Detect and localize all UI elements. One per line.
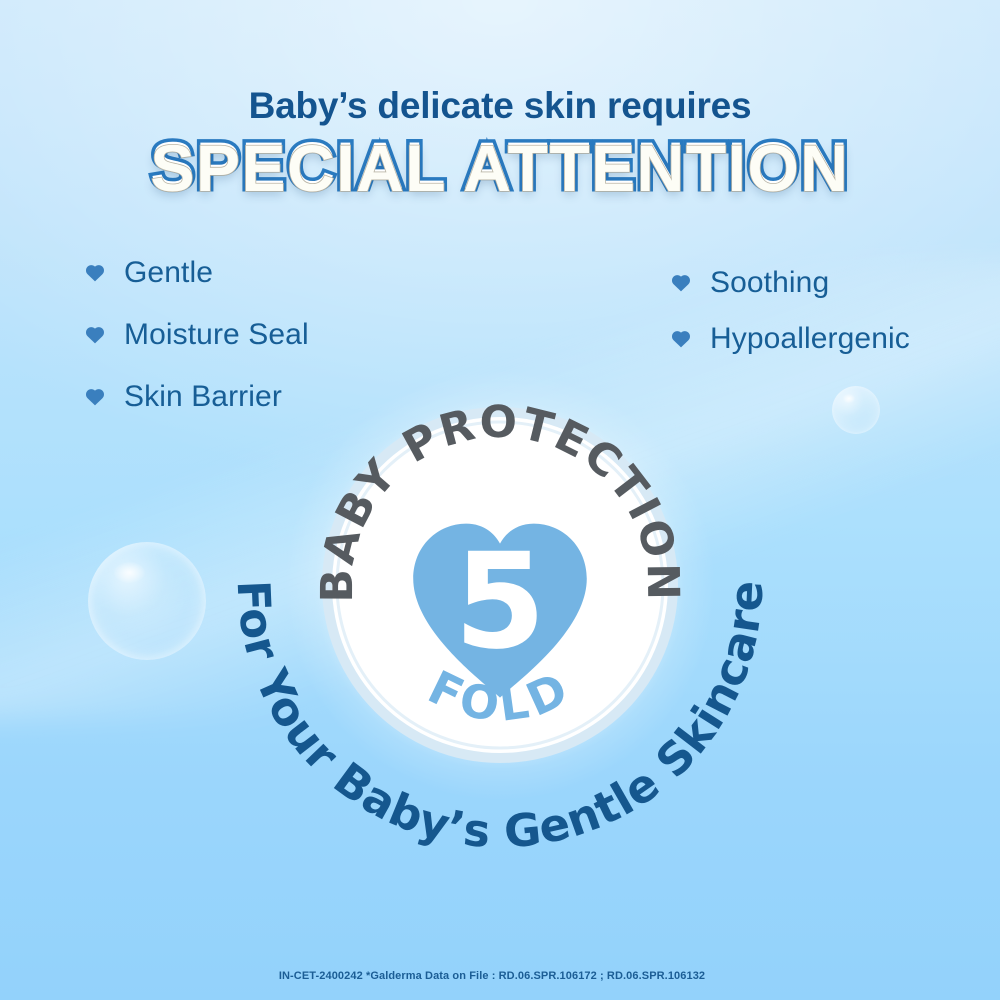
headline-text: SPECIAL ATTENTION	[0, 135, 1000, 201]
bubble-large-decoration	[88, 542, 206, 660]
heart-icon	[84, 262, 106, 284]
badge-number: 5	[454, 525, 546, 679]
heart-icon	[84, 324, 106, 346]
baby-protection-badge: 5 BABY PROTECTION FOLD For Your Baby’s G…	[190, 275, 810, 895]
footer-reference-note: IN-CET-2400242 *Galderma Data on File : …	[0, 970, 1000, 982]
subheadline-text: Baby’s delicate skin requires	[0, 86, 1000, 126]
heading-block: Baby’s delicate skin requires SPECIAL AT…	[0, 86, 1000, 198]
heart-icon	[84, 386, 106, 408]
baby-skincare-poster: Baby’s delicate skin requires SPECIAL AT…	[0, 0, 1000, 1000]
bubble-small-decoration	[832, 386, 880, 434]
